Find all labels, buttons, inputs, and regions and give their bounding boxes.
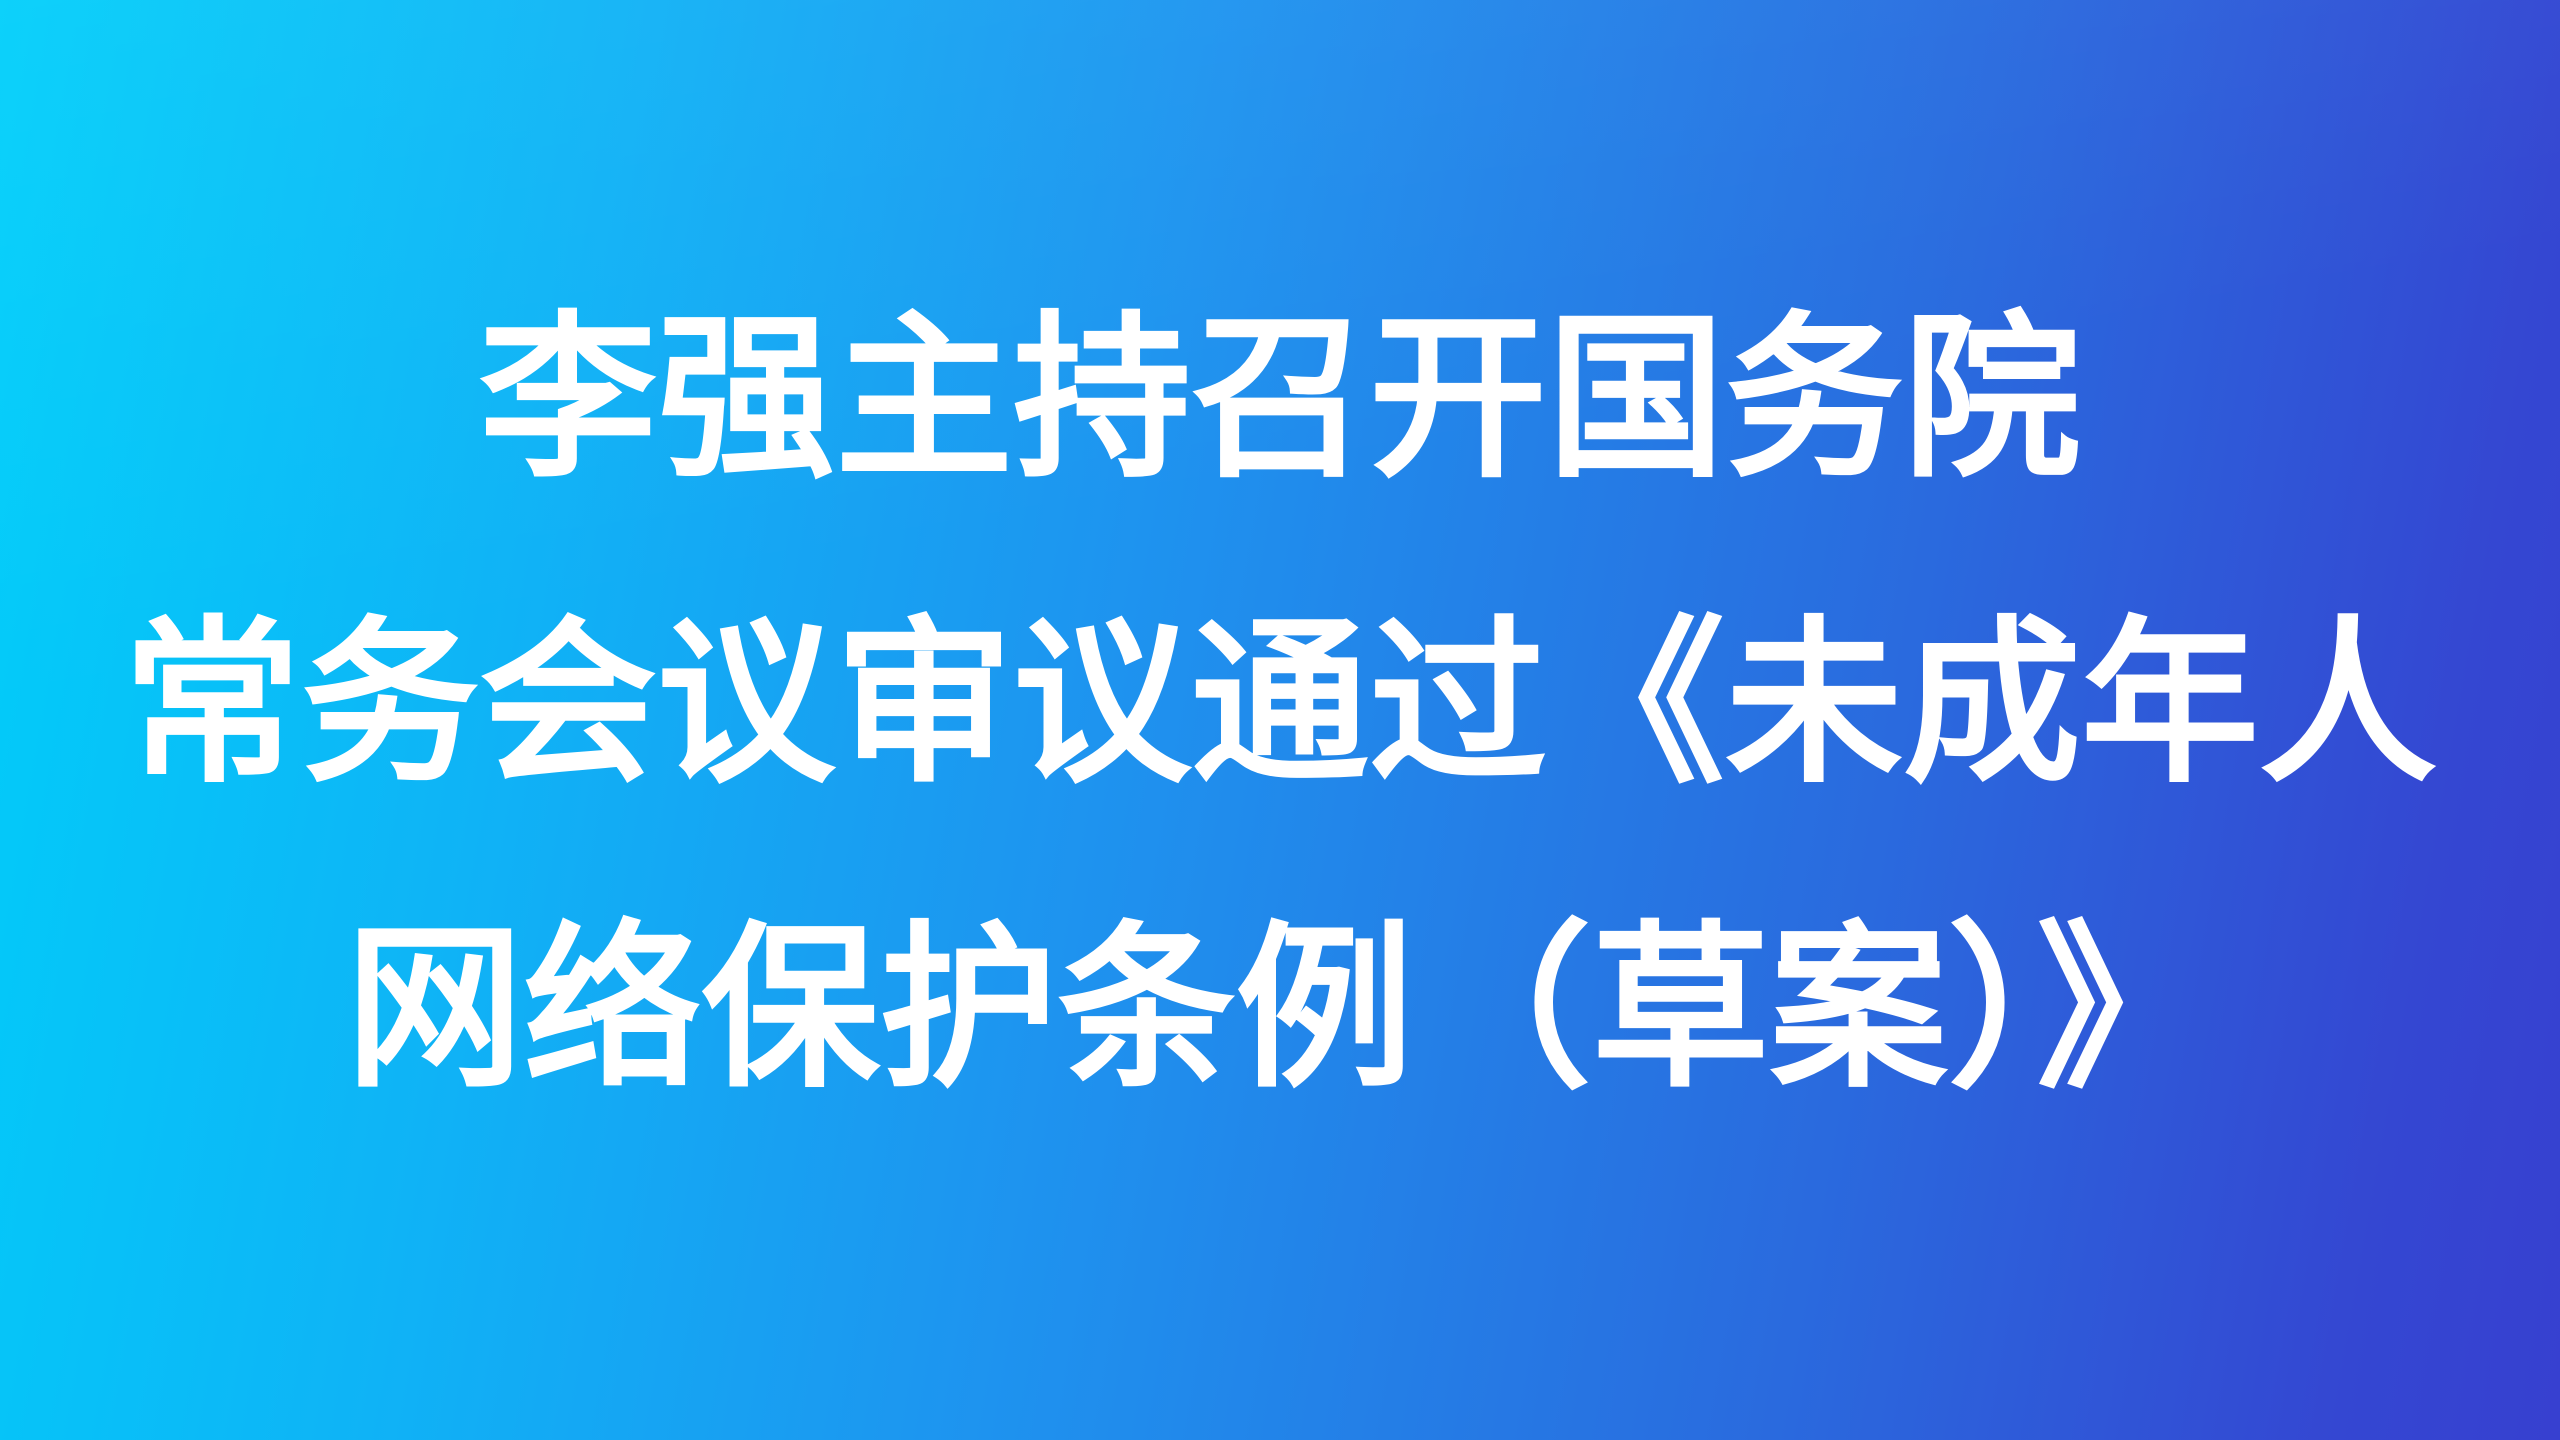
headline-line-1: 李强主持召开国务院: [0, 246, 2560, 551]
headline-line-3: 网络保护条例（草案）》: [0, 856, 2560, 1161]
headline-line-2: 常务会议审议通过《未成年人: [0, 551, 2560, 856]
banner-canvas: 李强主持召开国务院 常务会议审议通过《未成年人 网络保护条例（草案）》: [0, 0, 2560, 1440]
headline-block: 李强主持召开国务院 常务会议审议通过《未成年人 网络保护条例（草案）》: [0, 246, 2560, 1161]
